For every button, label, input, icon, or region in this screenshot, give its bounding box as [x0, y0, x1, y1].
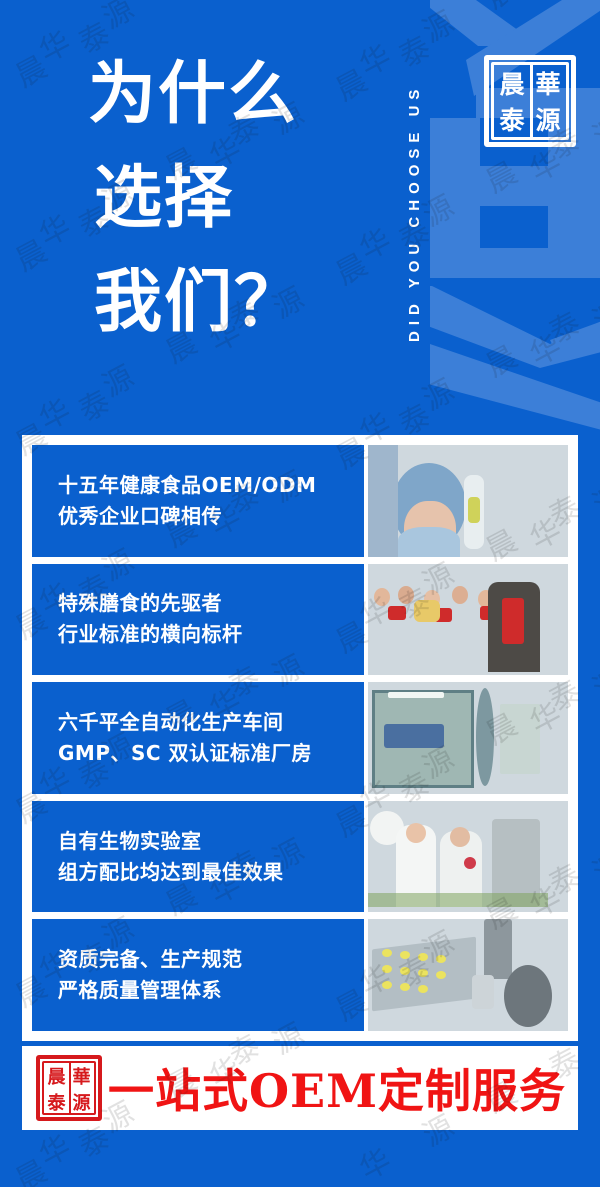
seal-char-top-left: 晨 [44, 1063, 69, 1089]
feature-line-1: 十五年健康食品OEM/ODM [58, 470, 364, 501]
production-line-staff-photo [368, 801, 568, 913]
feature-row: 自有生物实验室 组方配比均达到最佳效果 [32, 801, 568, 913]
page-title: 为什么 选择 我们？ [88, 42, 408, 354]
conference-audience-photo [368, 564, 568, 676]
feature-line-2: 行业标准的横向标杆 [58, 619, 364, 650]
seal-divider [69, 1061, 71, 1115]
seal-char-top-right: 華 [530, 65, 566, 101]
feature-line-1: 六千平全自动化生产车间 [58, 707, 364, 738]
cleanroom-workshop-photo [368, 682, 568, 794]
headline-line-3: 我们？ [94, 250, 408, 354]
footer-banner: 晨 華 泰 源 一站式OEM定制服务 [22, 1046, 578, 1130]
seal-char-bottom-right: 源 [69, 1089, 94, 1115]
vertical-subtitle: DID YOU CHOOSE US [395, 18, 423, 408]
feature-text-box: 六千平全自动化生产车间 GMP、SC 双认证标准厂房 [32, 682, 364, 794]
poster-canvas: 为什么 选择 我们？ DID YOU CHOOSE US 晨 華 泰 源 十五年… [0, 0, 600, 1187]
brand-seal-red-icon: 晨 華 泰 源 [36, 1055, 102, 1121]
feature-line-1: 特殊膳食的先驱者 [58, 588, 364, 619]
feature-text-box: 十五年健康食品OEM/ODM 优秀企业口碑相传 [32, 445, 364, 557]
feature-line-2: 严格质量管理体系 [58, 975, 364, 1006]
feature-row: 十五年健康食品OEM/ODM 优秀企业口碑相传 [32, 445, 568, 557]
feature-row: 资质完备、生产规范 严格质量管理体系 [32, 919, 568, 1031]
feature-line-1: 资质完备、生产规范 [58, 944, 364, 975]
lab-technician-pipette-photo [368, 445, 568, 557]
feature-line-1: 自有生物实验室 [58, 826, 364, 857]
feature-text-box: 特殊膳食的先驱者 行业标准的横向标杆 [32, 564, 364, 676]
headline-line-1: 为什么 [88, 42, 408, 146]
seal-char-top-right: 華 [69, 1063, 94, 1089]
seal-char-top-left: 晨 [494, 65, 530, 101]
feature-line-2: 优秀企业口碑相传 [58, 501, 364, 532]
feature-line-2: GMP、SC 双认证标准厂房 [58, 738, 364, 769]
seal-char-bottom-right: 源 [530, 101, 566, 137]
headline-line-2: 选择 [94, 146, 408, 250]
feature-row: 六千平全自动化生产车间 GMP、SC 双认证标准厂房 [32, 682, 568, 794]
capsule-packaging-machine-photo [368, 919, 568, 1031]
seal-char-bottom-left: 泰 [44, 1089, 69, 1115]
brand-seal-icon: 晨 華 泰 源 [484, 55, 576, 147]
seal-char-bottom-left: 泰 [494, 101, 530, 137]
feature-text-box: 资质完备、生产规范 严格质量管理体系 [32, 919, 364, 1031]
features-list: 十五年健康食品OEM/ODM 优秀企业口碑相传 特殊膳食的先驱者 行业标准的横向… [32, 445, 568, 1031]
seal-divider [530, 62, 533, 140]
features-panel: 十五年健康食品OEM/ODM 优秀企业口碑相传 特殊膳食的先驱者 行业标准的横向… [22, 435, 578, 1041]
feature-line-2: 组方配比均达到最佳效果 [58, 857, 364, 888]
footer-banner-text: 一站式OEM定制服务 [102, 1055, 578, 1121]
feature-row: 特殊膳食的先驱者 行业标准的横向标杆 [32, 564, 568, 676]
feature-text-box: 自有生物实验室 组方配比均达到最佳效果 [32, 801, 364, 913]
